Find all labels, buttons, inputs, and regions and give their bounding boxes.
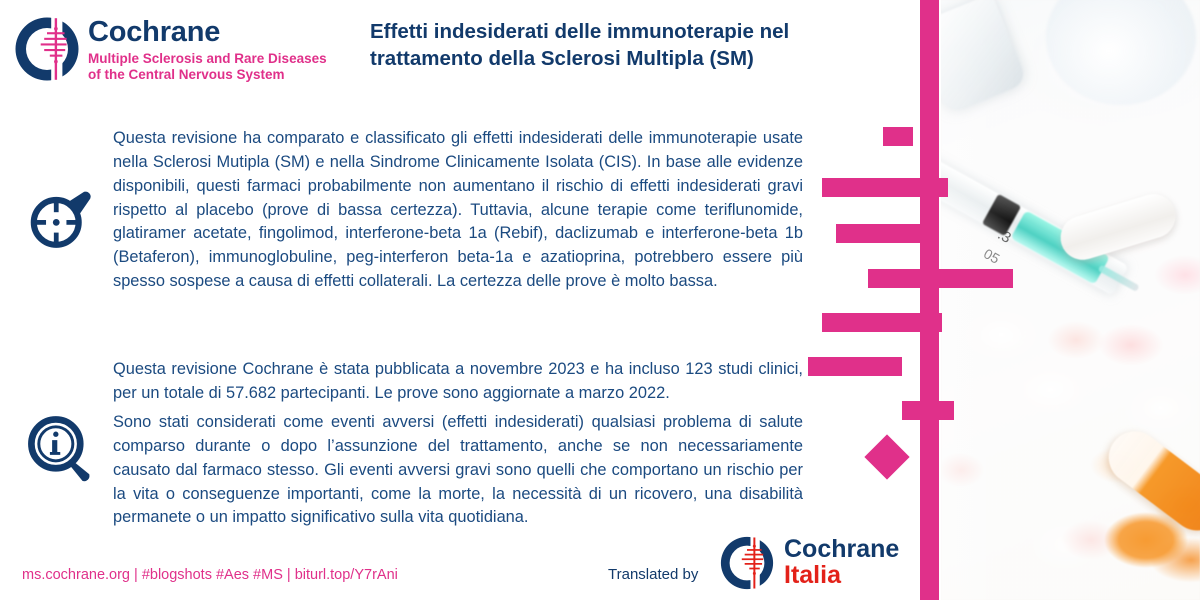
summary-paragraph-2: Questa revisione Cochrane è stata pubbli… <box>113 358 803 406</box>
brand-subtitle: Multiple Sclerosis and Rare Diseases of … <box>88 51 327 84</box>
forest-bar-5 <box>822 313 942 332</box>
cochrane-logo-icon <box>12 14 82 84</box>
forest-bar-1 <box>883 127 913 146</box>
forest-bar-3 <box>836 224 928 243</box>
brand-block: Cochrane Multiple Sclerosis and Rare Dis… <box>88 18 327 84</box>
italia-line-2: Italia <box>784 563 899 589</box>
cochrane-italia-wordmark: Cochrane Italia <box>784 537 899 588</box>
translated-by-label: Translated by <box>608 566 698 583</box>
forest-vertical-line <box>920 0 939 600</box>
target-magnifier-icon <box>27 185 95 253</box>
cochrane-italia-logo-icon <box>718 534 776 592</box>
page-title: Effetti indesiderati delle immunoterapie… <box>370 18 870 73</box>
summary-paragraph-3: Sono stati considerati come eventi avver… <box>113 411 803 530</box>
summary-paragraph-1: Questa revisione ha comparato e classifi… <box>113 127 803 294</box>
info-magnifier-icon <box>24 412 98 486</box>
infographic-page: .3 05 Cochrane Multiple Sclerosis and Ra… <box>0 0 1200 600</box>
photo-edge-veil <box>941 0 1200 600</box>
italia-line-1: Cochrane <box>784 537 899 563</box>
footer-links[interactable]: ms.cochrane.org | #blogshots #Aes #MS | … <box>22 567 398 583</box>
forest-bar-6 <box>808 357 902 376</box>
pills-and-syringe-photo: .3 05 <box>941 0 1200 600</box>
forest-diamond <box>864 434 909 479</box>
forest-bar-2 <box>822 178 948 197</box>
brand-name: Cochrane <box>88 18 327 47</box>
